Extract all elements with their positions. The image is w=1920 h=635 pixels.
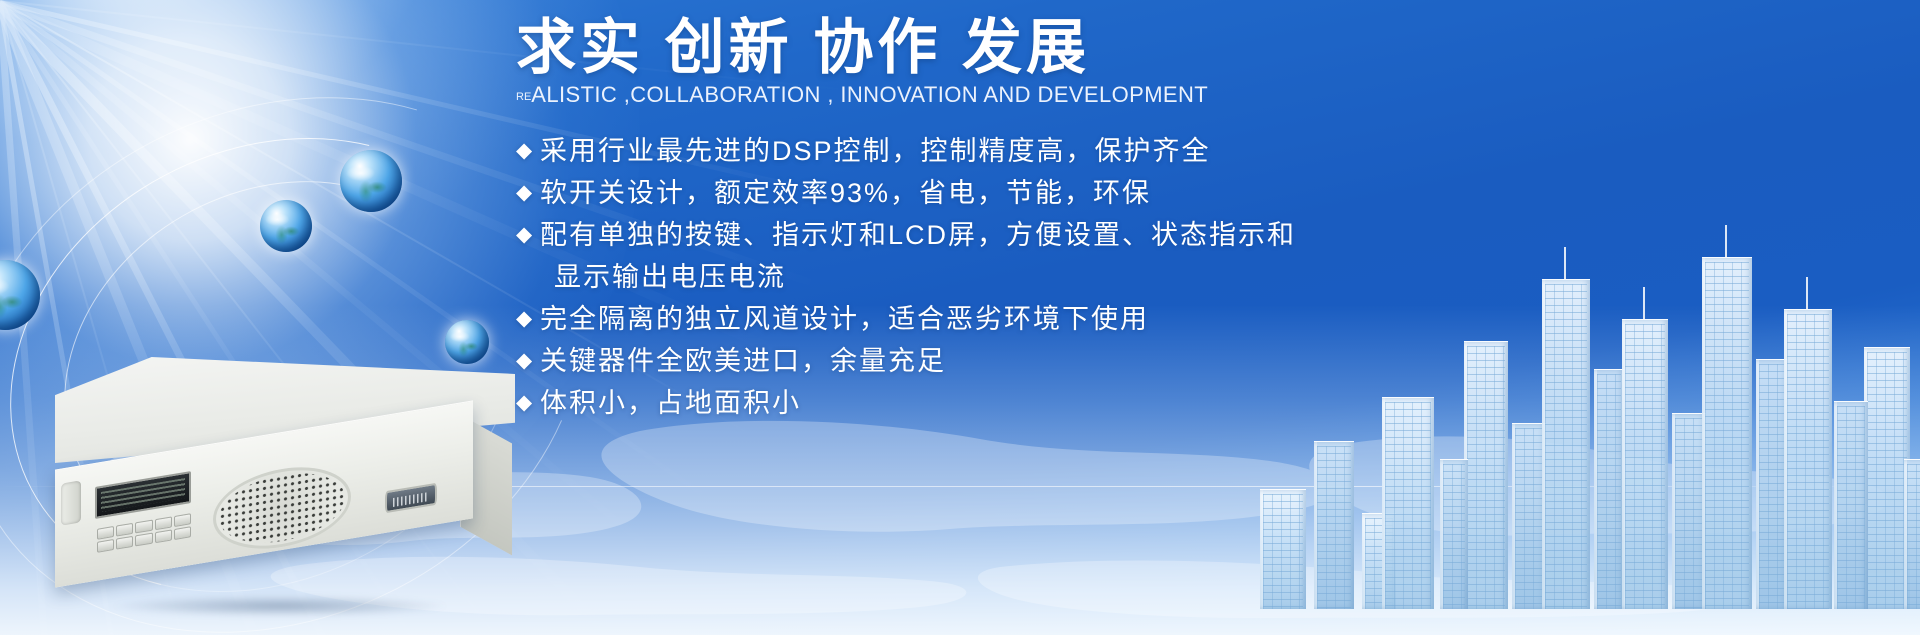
diamond-bullet-icon: ◆ [516,214,540,256]
feature-list-item-label: 软开关设计，额定效率93%，省电，节能，环保 [540,172,1151,214]
subtitle: REALISTIC ,COLLABORATION , INNOVATION AN… [516,82,1616,108]
feature-list-item-label: 完全隔离的独立风道设计，适合恶劣环境下使用 [540,298,1149,340]
skyline-building [1834,401,1868,609]
feature-list-item-label: 显示输出电压电流 [540,256,786,298]
promo-banner: 求实 创新 协作 发展 REALISTIC ,COLLABORATION , I… [0,0,1920,635]
skyline-building [1542,279,1590,609]
skyline-building [1784,309,1832,609]
diamond-bullet-icon: ◆ [516,130,540,172]
skyline-building [1314,441,1354,609]
feature-list: ◆采用行业最先进的DSP控制，控制精度高，保护齐全◆软开关设计，额定效率93%，… [516,130,1616,424]
product-shadow [45,591,515,621]
skyline-building [1594,369,1624,609]
antenna-spire [1725,225,1727,257]
diamond-bullet-icon: ◆ [516,340,540,382]
feature-list-item-label: 体积小，占地面积小 [540,382,801,424]
subtitle-main: ALISTIC ,COLLABORATION , INNOVATION AND … [531,82,1208,107]
feature-list-item-label: 关键器件全欧美进口，余量充足 [540,340,946,382]
banner-text-block: 求实 创新 协作 发展 REALISTIC ,COLLABORATION , I… [516,16,1616,424]
skyline-building [1904,459,1920,609]
skyline-building [1622,319,1668,609]
skyline-building [1702,257,1752,609]
skyline-building [1382,397,1434,609]
feature-list-item: ◆软开关设计，额定效率93%，省电，节能，环保 [516,172,1616,214]
diamond-bullet-icon: ◆ [516,382,540,424]
feature-list-item: ◆关键器件全欧美进口，余量充足 [516,340,1616,382]
feature-list-item: ◆显示输出电压电流 [516,256,1616,298]
skyline-building [1260,489,1306,609]
feature-list-item: ◆配有单独的按键、指示灯和LCD屏，方便设置、状态指示和 [516,214,1616,256]
skyline-building [1672,413,1706,609]
skyline-building [1512,423,1546,609]
skyline-building [1440,459,1468,609]
feature-list-item-label: 采用行业最先进的DSP控制，控制精度高，保护齐全 [540,130,1211,172]
feature-list-item: ◆体积小，占地面积小 [516,382,1616,424]
globe-icon [260,200,312,252]
feature-list-item-label: 配有单独的按键、指示灯和LCD屏，方便设置、状态指示和 [540,214,1296,256]
feature-list-item: ◆完全隔离的独立风道设计，适合恶劣环境下使用 [516,298,1616,340]
diamond-bullet-icon: ◆ [516,172,540,214]
subtitle-prefix: RE [516,91,531,103]
globe-icon [340,150,402,212]
page-title: 求实 创新 协作 发展 [516,16,1616,80]
feature-list-item: ◆采用行业最先进的DSP控制，控制精度高，保护齐全 [516,130,1616,172]
skyline-building [1464,341,1508,609]
antenna-spire [1806,277,1808,309]
antenna-spire [1643,287,1645,319]
diamond-bullet-icon: ◆ [516,298,540,340]
product-image [55,357,515,607]
product-handle [61,480,81,525]
